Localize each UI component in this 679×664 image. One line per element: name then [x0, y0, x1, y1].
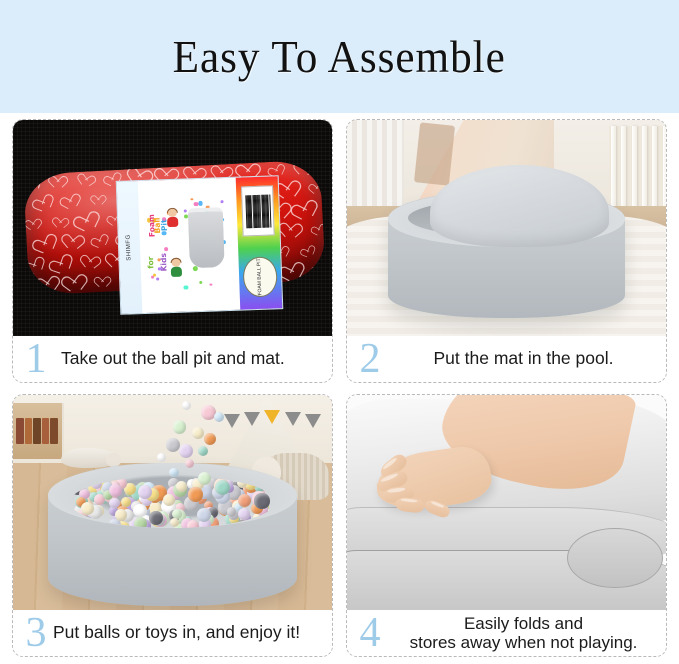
step-number-1: 1: [19, 338, 53, 380]
teepee-opening: [414, 123, 455, 187]
label-oval-badge: FOAM BALL PIT: [243, 257, 278, 298]
header-banner: Easy To Assemble: [0, 0, 679, 113]
step-3-caption-text: Put balls or toys in, and enjoy it!: [53, 623, 332, 643]
label-pit-illustration: [188, 207, 225, 269]
pastel-balls: [70, 476, 274, 528]
bunting-flags: [224, 410, 326, 432]
product-label: SHIMFG Foam: [116, 175, 283, 314]
page-title: Easy To Assemble: [173, 30, 506, 83]
step-4-photo: [347, 395, 666, 611]
step-card-1: SHIMFG Foam: [12, 119, 333, 383]
step-4-caption: 4 Easily folds and stores away when not …: [347, 610, 666, 656]
step-number-4: 4: [353, 612, 387, 654]
foam-mat: [430, 165, 609, 247]
barcode: [241, 186, 274, 237]
step-4-caption-text: Easily folds and stores away when not pl…: [387, 614, 666, 652]
label-artwork: Foam Ball Pit for Kids: [138, 178, 241, 313]
steps-grid: SHIMFG Foam: [12, 119, 667, 657]
infographic-page: Easy To Assemble SHIMFG: [0, 0, 679, 664]
plush-bear-toy: [61, 448, 118, 467]
step-1-caption: 1 Take out the ball pit and mat.: [13, 336, 332, 382]
label-word: for: [146, 256, 155, 268]
kid-illustration: [170, 259, 184, 277]
step-1-caption-text: Take out the ball pit and mat.: [53, 349, 332, 369]
badge-text: FOAM BALL PIT: [257, 258, 264, 295]
label-rainbow-strip: FOAM BALL PIT: [236, 176, 282, 309]
books: [16, 418, 57, 444]
step-2-caption-text: Put the mat in the pool.: [387, 349, 666, 369]
step-card-2: 2 Put the mat in the pool.: [346, 119, 667, 383]
step-3-caption: 3 Put balls or toys in, and enjoy it!: [13, 610, 332, 656]
brand-text: SHIMFG: [126, 234, 133, 261]
mat-rounded-edge: [567, 528, 663, 588]
step-card-4: 4 Easily folds and stores away when not …: [346, 394, 667, 658]
step-3-photo: [13, 395, 332, 611]
step-2-photo: [347, 120, 666, 336]
label-word: Kids: [159, 253, 169, 272]
label-word: Pit: [160, 219, 169, 231]
step-4-caption-line-2: stores away when not playing.: [387, 633, 660, 652]
step-1-photo: SHIMFG Foam: [13, 120, 332, 336]
step-card-3: 3 Put balls or toys in, and enjoy it!: [12, 394, 333, 658]
step-2-caption: 2 Put the mat in the pool.: [347, 336, 666, 382]
step-number-3: 3: [19, 612, 53, 654]
step-4-caption-line-1: Easily folds and: [387, 614, 660, 633]
step-number-2: 2: [353, 338, 387, 380]
curtain: [347, 120, 404, 215]
